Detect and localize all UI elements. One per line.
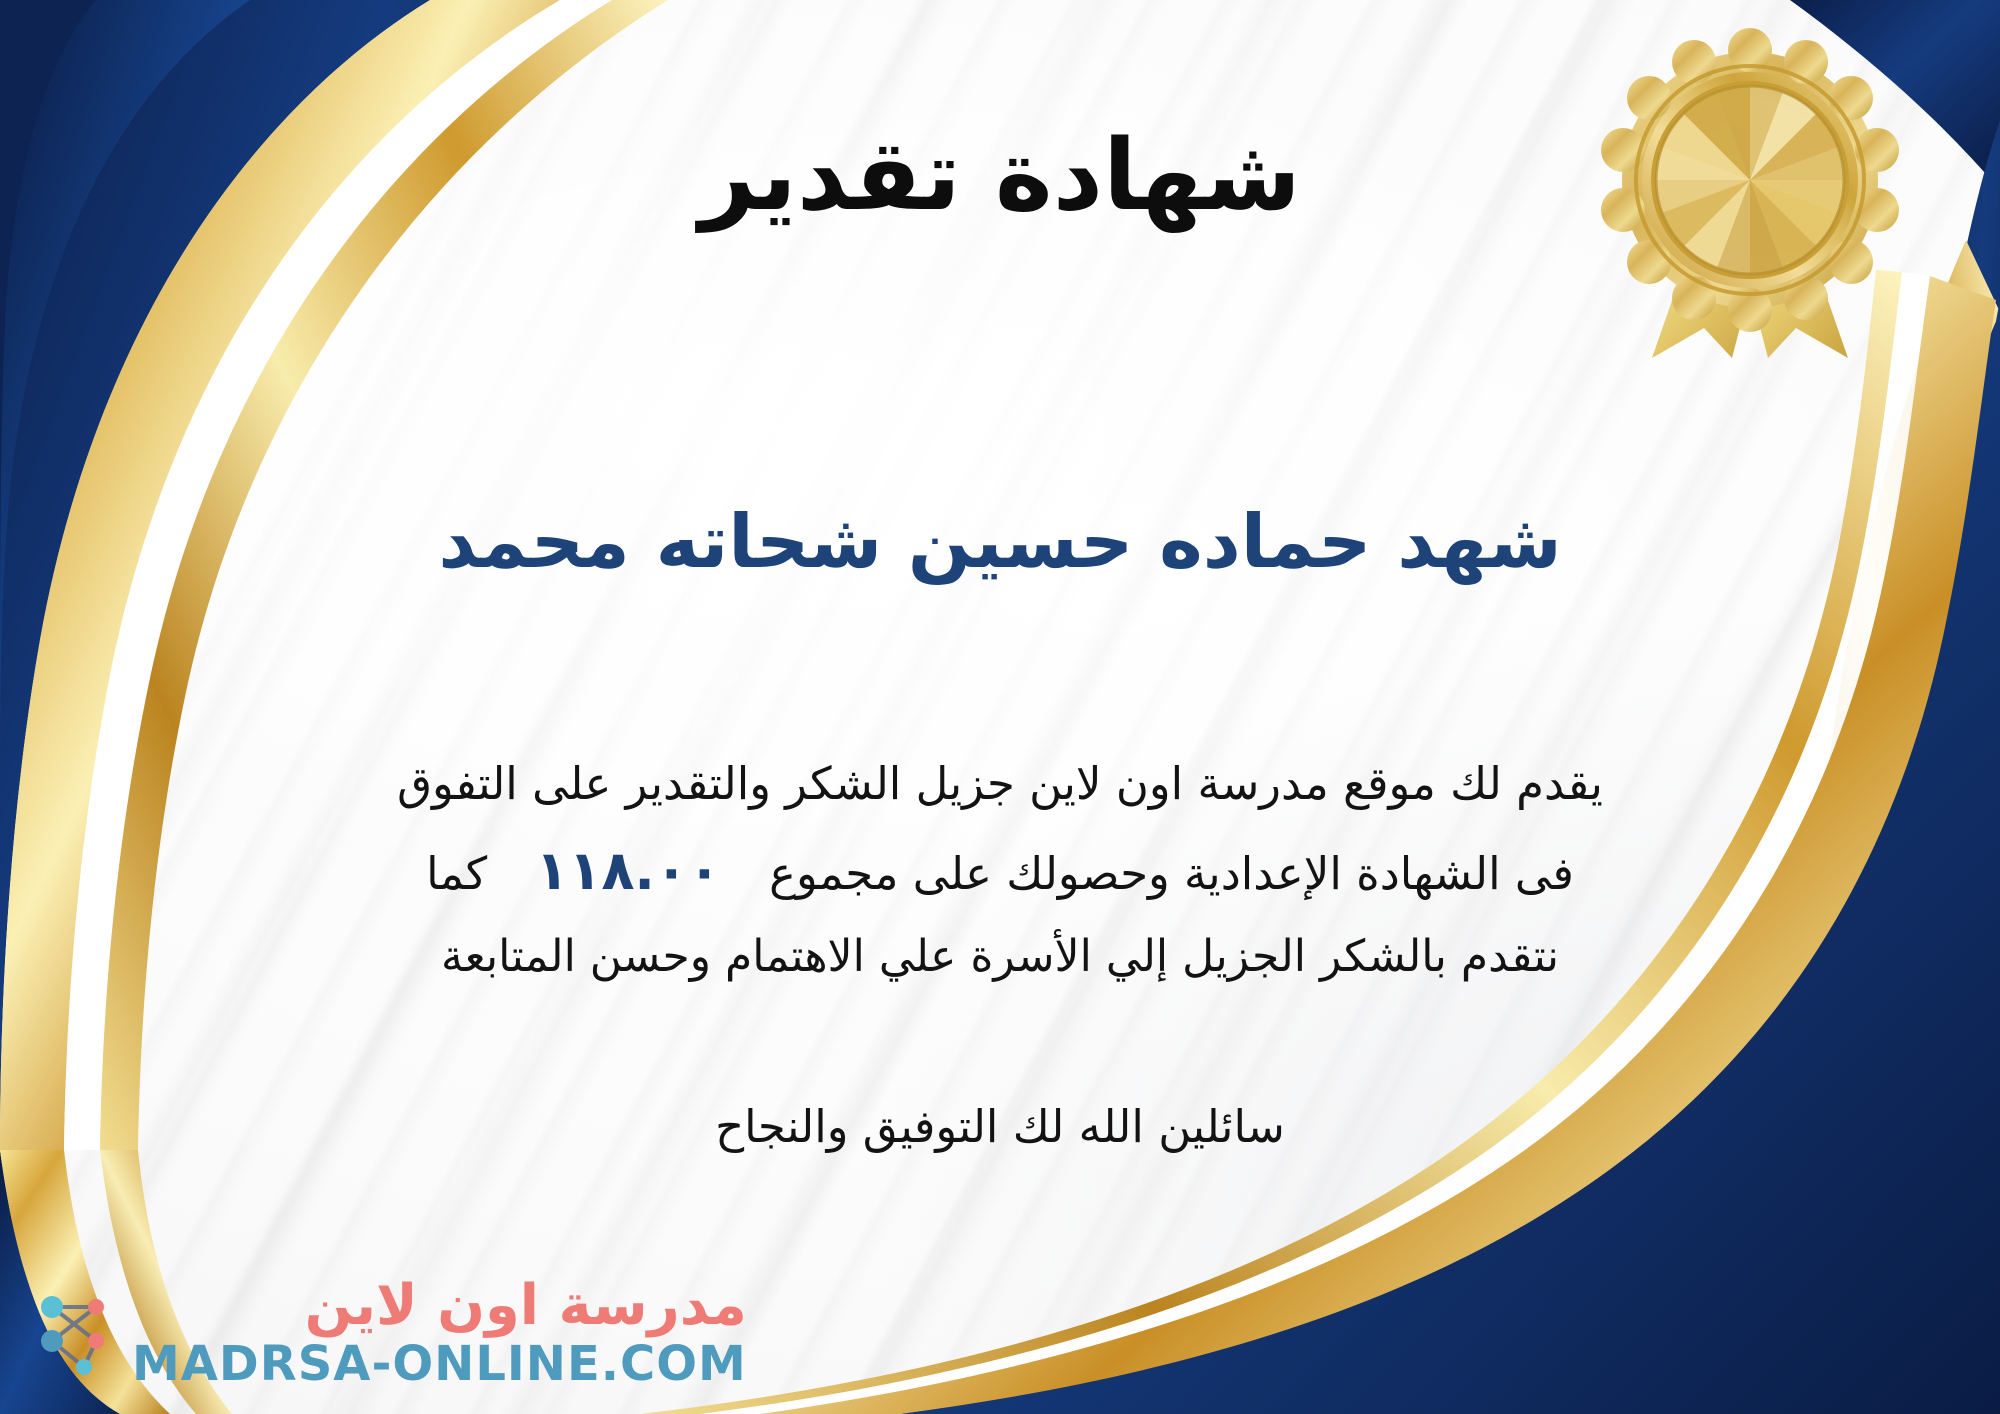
body-line-3: نتقدم بالشكر الجزيل إلي الأسرة علي الاهت… (55, 918, 1945, 995)
certificate-title: شهادة تقدير (0, 120, 2000, 233)
body-line-2: فى الشهادة الإعدادية وحصولك على مجموع ١١… (55, 824, 1945, 919)
certificate-body: يقدم لك موقع مدرسة اون لاين جزيل الشكر و… (55, 745, 1945, 995)
score-value: ١١٨.٠٠ (502, 839, 755, 902)
body-line-1: يقدم لك موقع مدرسة اون لاين جزيل الشكر و… (55, 745, 1945, 824)
brand-website: MADRSA-ONLINE.COM (132, 1340, 747, 1388)
student-name: شهد حماده حسين شحاته محمد (0, 498, 2000, 587)
brand-name-arabic: مدرسة اون لاين (305, 1278, 747, 1334)
body-line-2-suffix: كما (426, 847, 487, 900)
network-nodes-icon (26, 1285, 122, 1381)
brand-text: مدرسة اون لاين MADRSA-ONLINE.COM (132, 1278, 747, 1388)
closing-wish: سائلين الله لك التوفيق والنجاح (0, 1100, 2000, 1153)
body-line-2-prefix: فى الشهادة الإعدادية وحصولك على مجموع (769, 847, 1574, 900)
certificate-canvas: شهادة تقدير شهد حماده حسين شحاته محمد يق… (0, 0, 2000, 1414)
certificate-content: شهادة تقدير شهد حماده حسين شحاته محمد يق… (0, 0, 2000, 1414)
brand-logo[interactable]: مدرسة اون لاين MADRSA-ONLINE.COM (26, 1278, 747, 1388)
